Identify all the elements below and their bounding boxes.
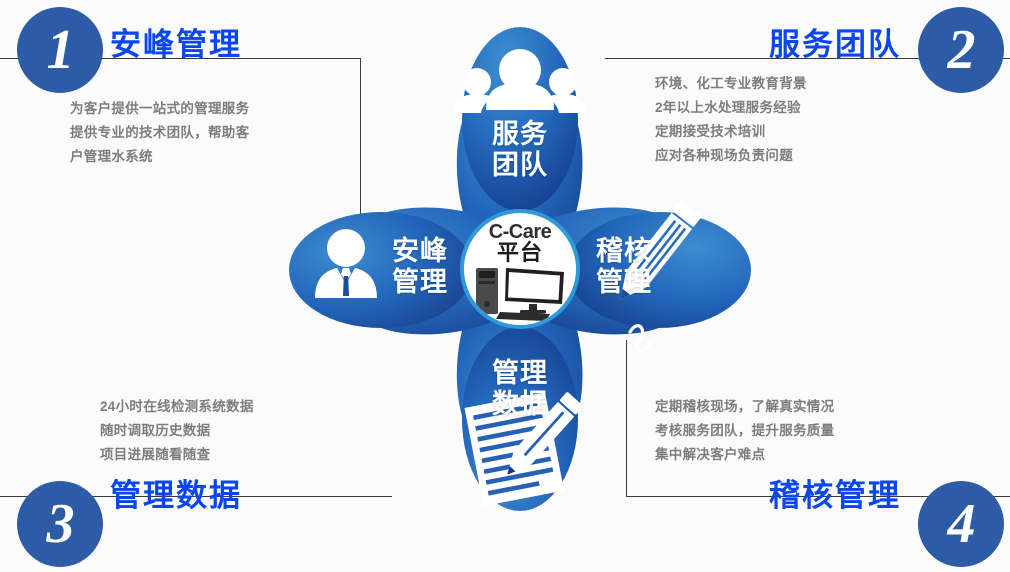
section-body-3: 24小时在线检测系统数据 随时调取历史数据 项目进展随看随查 — [100, 395, 254, 467]
section-body-1: 为客户提供一站式的管理服务 提供专业的技术团队，帮助客 户管理水系统 — [70, 97, 249, 169]
desktop-computer-icon — [472, 264, 568, 327]
center-brand-cn-text: 平台 — [497, 242, 543, 264]
section-body-line: 随时调取历史数据 — [100, 419, 254, 443]
flower-diagram: 服务 团队 稽核 管理 管理 数据 安峰 管理 C-Care 平台 — [258, 14, 778, 524]
section-title-1: 安峰管理 — [110, 19, 242, 64]
people-group-icon — [454, 49, 586, 113]
section-body-line: 项目进展随看随查 — [100, 443, 254, 467]
petal-label-bottom: 管理 数据 — [465, 358, 575, 420]
section-number-2: 2 — [948, 22, 975, 78]
center-brand-text: C-Care — [489, 222, 552, 242]
section-number-badge-4: 4 — [918, 481, 1004, 567]
section-number-4: 4 — [948, 496, 975, 552]
section-title-4: 稽核管理 — [769, 470, 901, 515]
section-number-badge-2: 2 — [918, 7, 1004, 93]
section-title-3: 管理数据 — [110, 470, 242, 515]
section-title-2: 服务团队 — [769, 19, 901, 64]
petal-label-right: 稽核 管理 — [596, 236, 688, 298]
section-number-badge-1: 1 — [17, 7, 103, 93]
section-number-1: 1 — [47, 22, 74, 78]
section-number-3: 3 — [47, 496, 74, 552]
section-body-line: 24小时在线检测系统数据 — [100, 395, 254, 419]
section-body-line: 户管理水系统 — [70, 145, 249, 169]
petal-label-left: 安峰 管理 — [356, 236, 448, 298]
infographic-canvas: 1 2 3 4 安峰管理 服务团队 管理数据 稽核管理 为客户提供一站式的管理服… — [0, 0, 1010, 572]
section-body-line: 为客户提供一站式的管理服务 — [70, 97, 249, 121]
center-hub: C-Care 平台 — [460, 209, 580, 329]
section-number-badge-3: 3 — [17, 481, 103, 567]
petal-label-top: 服务 团队 — [465, 119, 575, 181]
section-body-line: 提供专业的技术团队，帮助客 — [70, 121, 249, 145]
